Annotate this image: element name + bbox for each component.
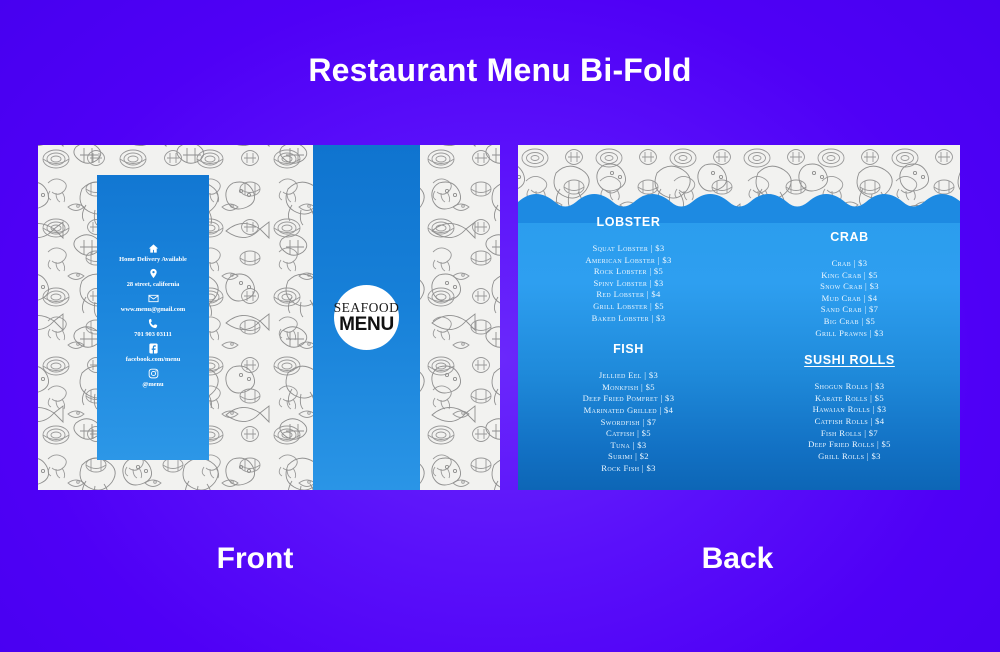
contact-row-facebook: facebook.com/menu [97,343,209,364]
section-title-crab: CRAB [747,230,952,244]
instagram-icon [148,368,159,379]
caption-back: Back [640,542,835,576]
location-icon [148,268,159,279]
caption-front: Front [150,542,360,576]
menu-items-fish: Jellied Eel | $3 Monkfish | $5 Deep Frie… [526,370,731,474]
contact-text-address: 28 street, california [97,280,209,289]
menu-column-left: LOBSTER Squat Lobster | $3 American Lobs… [518,205,739,490]
menu-item: Big Crab | $5 [747,316,952,328]
phone-icon [148,318,159,329]
menu-item: King Crab | $5 [747,270,952,282]
menu-item: Catfish Rolls | $4 [747,416,952,428]
contact-row-email: www.menu@gmail.com [97,293,209,314]
logo-menu-text: MENU [339,315,394,334]
menu-section-sushi-rolls: SUSHI ROLLS Shogun Rolls | $3 Karate Rol… [747,353,952,462]
menu-item: Deep Fried Pomfret | $3 [526,393,731,405]
contact-row-home-delivery: Home Delivery Available [97,243,209,264]
contact-row-phone: 701 903 03111 [97,318,209,339]
contact-row-instagram: @menu [97,368,209,389]
menu-item: Squat Lobster | $3 [526,243,731,255]
menu-item: Grill Prawns | $3 [747,328,952,340]
menu-item: Rock Lobster | $5 [526,266,731,278]
menu-item: Swordfish | $7 [526,417,731,429]
menu-item: Sand Crab | $7 [747,304,952,316]
menu-section-fish: FISH Jellied Eel | $3 Monkfish | $5 Deep… [526,342,731,474]
menu-item: American Lobster | $3 [526,255,731,267]
menu-columns: LOBSTER Squat Lobster | $3 American Lobs… [518,205,960,490]
menu-column-right: CRAB Crab | $3 King Crab | $5 Snow Crab … [739,205,960,490]
menu-item: Catfish | $5 [526,428,731,440]
contact-text-phone: 701 903 03111 [97,330,209,339]
menu-item: Red Lobster | $4 [526,289,731,301]
section-title-lobster: LOBSTER [526,215,731,229]
menu-item: Mud Crab | $4 [747,293,952,305]
logo-seafood-text: SEAFOOD [334,301,400,315]
menu-item: Karate Rolls | $5 [747,393,952,405]
menu-item: Tuna | $3 [526,440,731,452]
menu-item: Marinated Grilled | $4 [526,405,731,417]
menu-item: Fish Rolls | $7 [747,428,952,440]
contact-text-email: www.menu@gmail.com [97,305,209,314]
menu-items-lobster: Squat Lobster | $3 American Lobster | $3… [526,243,731,324]
contact-text-instagram: @menu [97,380,209,389]
contact-info-card: Home Delivery Available 28 street, calif… [97,175,209,460]
menu-items-sushi-rolls: Shogun Rolls | $3 Karate Rolls | $5 Hawa… [747,381,952,462]
section-title-sushi-rolls: SUSHI ROLLS [747,353,952,367]
menu-item: Hawaian Rolls | $3 [747,404,952,416]
contact-text-facebook: facebook.com/menu [97,355,209,364]
section-title-fish: FISH [526,342,731,356]
menu-item: Spiny Lobster | $3 [526,278,731,290]
menu-item: Grill Lobster | $5 [526,301,731,313]
menu-item: Rock Fish | $3 [526,463,731,475]
menu-item: Jellied Eel | $3 [526,370,731,382]
menu-section-lobster: LOBSTER Squat Lobster | $3 American Lobs… [526,215,731,324]
front-panel-preview[interactable]: SEAFOOD MENU Home Delivery Available 28 … [38,145,500,490]
menu-item: Baked Lobster | $3 [526,313,731,325]
menu-item: Shogun Rolls | $3 [747,381,952,393]
contact-row-address: 28 street, california [97,268,209,289]
contact-info-list: Home Delivery Available 28 street, calif… [97,243,209,393]
menu-section-crab: CRAB Crab | $3 King Crab | $5 Snow Crab … [747,230,952,339]
contact-text-home-delivery: Home Delivery Available [97,255,209,264]
menu-item: Surimi | $2 [526,451,731,463]
menu-item: Crab | $3 [747,258,952,270]
menu-items-crab: Crab | $3 King Crab | $5 Snow Crab | $3 … [747,258,952,339]
seafood-menu-logo: SEAFOOD MENU [334,285,399,350]
facebook-icon [148,343,159,354]
menu-item: Grill Rolls | $3 [747,451,952,463]
home-icon [148,243,159,254]
page-title: Restaurant Menu Bi-Fold [0,52,1000,89]
menu-item: Snow Crab | $3 [747,281,952,293]
back-panel-preview[interactable]: LOBSTER Squat Lobster | $3 American Lobs… [518,145,960,490]
menu-item: Monkfish | $5 [526,382,731,394]
envelope-icon [148,293,159,304]
menu-item: Deep Fried Rolls | $5 [747,439,952,451]
